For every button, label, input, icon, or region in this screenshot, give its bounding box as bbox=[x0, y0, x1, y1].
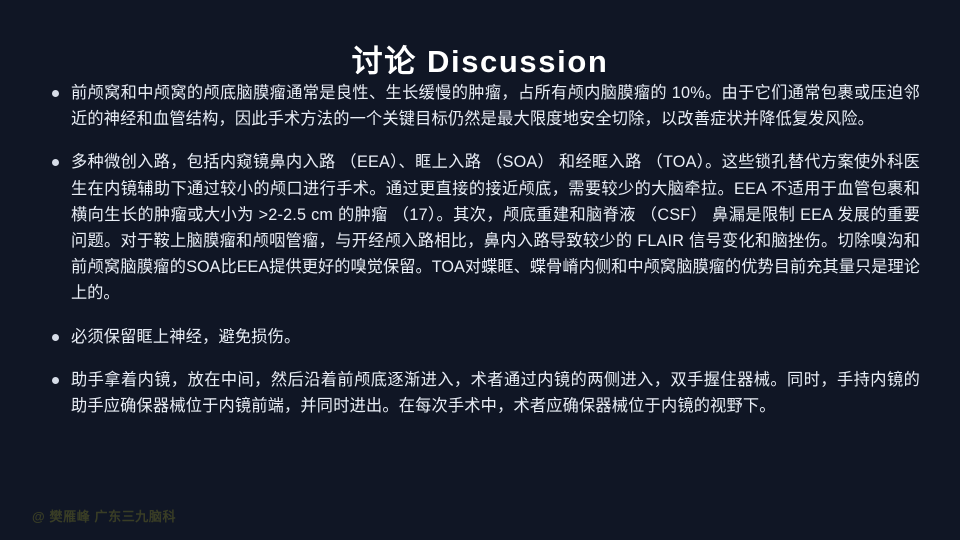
bullet-item-1: 前颅窝和中颅窝的颅底脑膜瘤通常是良性、生长缓慢的肿瘤，占所有颅内脑膜瘤的 10%… bbox=[48, 80, 920, 132]
presentation-slide: 讨论 Discussion 前颅窝和中颅窝的颅底脑膜瘤通常是良性、生长缓慢的肿瘤… bbox=[0, 0, 960, 540]
bullet-item-4: 助手拿着内镜，放在中间，然后沿着前颅底逐渐进入，术者通过内镜的两侧进入，双手握住… bbox=[48, 367, 920, 419]
discussion-bullet-list: 前颅窝和中颅窝的颅底脑膜瘤通常是良性、生长缓慢的肿瘤，占所有颅内脑膜瘤的 10%… bbox=[48, 80, 920, 419]
bullet-text-2-tail: SOA比EEA提供更好的嗅觉保留。TOA对蝶眶、蝶骨嵴内侧和中颅窝脑膜瘤的优势目… bbox=[71, 258, 920, 302]
watermark: @ 樊雁峰 广东三九脑科 bbox=[32, 508, 176, 526]
bullet-dot-icon bbox=[52, 159, 59, 166]
bullet-text-2: 多种微创入路，包括内窥镜鼻内入路 （EEA）、眶上入路 （SOA） 和经眶入路 … bbox=[71, 149, 920, 306]
bullet-dot-icon bbox=[52, 334, 59, 341]
bullet-dot-icon bbox=[52, 377, 59, 384]
bullet-text-4: 助手拿着内镜，放在中间，然后沿着前颅底逐渐进入，术者通过内镜的两侧进入，双手握住… bbox=[71, 367, 920, 419]
bullet-text-1: 前颅窝和中颅窝的颅底脑膜瘤通常是良性、生长缓慢的肿瘤，占所有颅内脑膜瘤的 10%… bbox=[71, 80, 920, 132]
bullet-item-3: 必须保留眶上神经，避免损伤。 bbox=[48, 324, 920, 350]
bullet-dot-icon bbox=[52, 90, 59, 97]
slide-title: 讨论 Discussion bbox=[0, 42, 960, 82]
bullet-text-3: 必须保留眶上神经，避免损伤。 bbox=[71, 324, 920, 350]
bullet-item-2: 多种微创入路，包括内窥镜鼻内入路 （EEA）、眶上入路 （SOA） 和经眶入路 … bbox=[48, 149, 920, 306]
